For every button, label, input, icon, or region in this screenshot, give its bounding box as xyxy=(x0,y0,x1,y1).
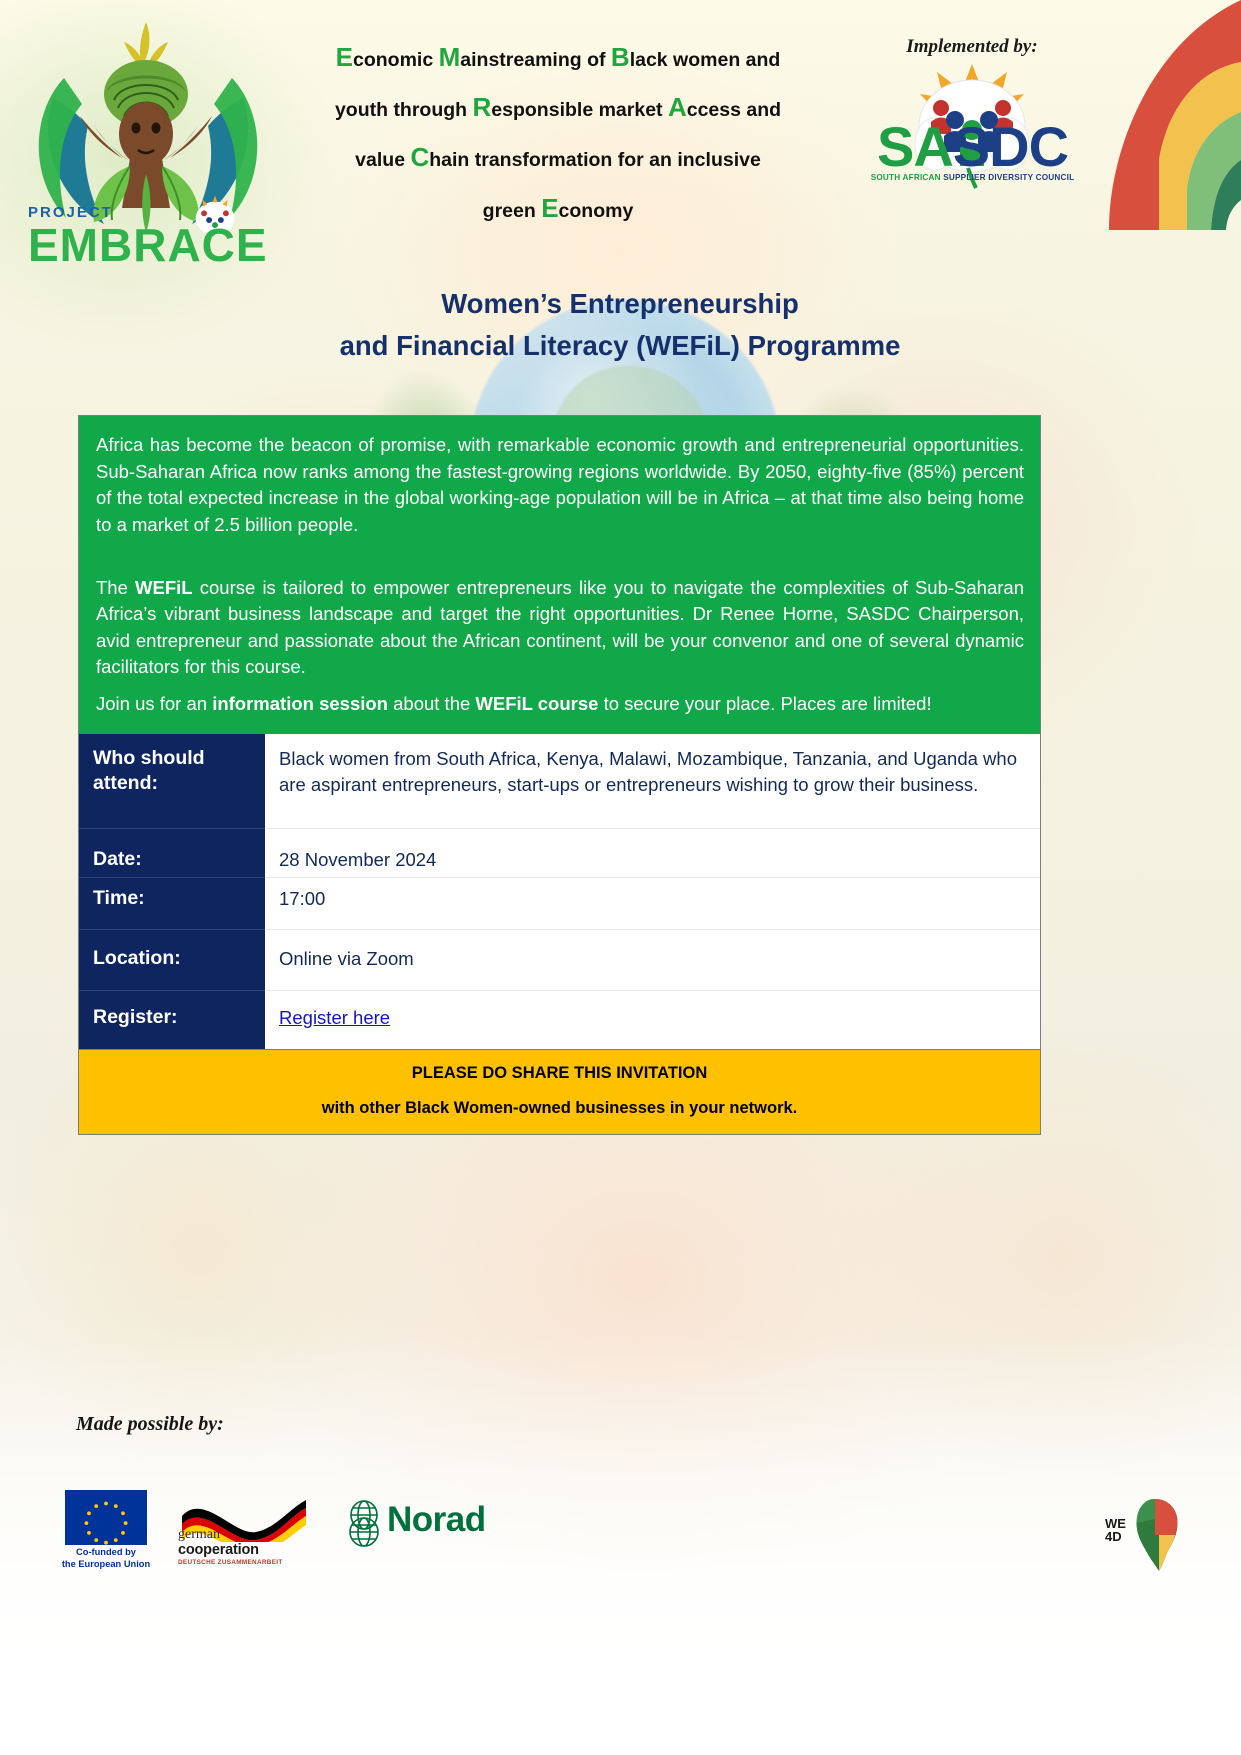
acronym-cap-E: E xyxy=(336,42,353,72)
we4d-wordmark: WE 4D xyxy=(1105,1517,1126,1544)
acronym-text-4a: green xyxy=(483,200,542,222)
implemented-by-label: Implemented by: xyxy=(862,36,1082,58)
sasdc-letters-sdc: SDC xyxy=(953,115,1068,178)
sasdc-wordmark: SASDC SOUTH AFRICAN SUPPLIER DIVERSITY C… xyxy=(855,120,1090,182)
embrace-name: EMBRACE xyxy=(28,222,268,268)
table-row: Who should attend: Black women from Sout… xyxy=(79,734,1040,829)
intro-p3-b: about the xyxy=(388,693,475,714)
intro-p3-c: to secure your place. Places are limited… xyxy=(598,693,931,714)
norad-wordmark: Norad xyxy=(387,1500,486,1540)
acronym-text-1b: ainstreaming of xyxy=(460,49,611,71)
acronym-text-1c: lack women and xyxy=(630,49,781,71)
header: PROJECT EMBRACE Economic Mainstreaming o… xyxy=(0,0,1241,285)
acronym-cap-B: B xyxy=(611,42,630,72)
acronym-text-1a: conomic xyxy=(353,49,439,71)
intro-p3-bold-1: information session xyxy=(212,693,388,714)
share-banner-line-2: with other Black Women-owned businesses … xyxy=(97,1099,1022,1118)
acronym-line-4: green Economy xyxy=(288,183,828,233)
invitation-card: Africa has become the beacon of promise,… xyxy=(78,415,1041,1135)
german-cooperation-line-1: german xyxy=(178,1528,318,1543)
paragraph-spacer-2 xyxy=(96,681,1024,691)
detail-value-date: 28 November 2024 xyxy=(265,829,1040,878)
acronym-text-2b: esponsible market xyxy=(491,99,668,121)
intro-p2-bold: WEFiL xyxy=(135,577,193,598)
acronym-line-3: value Chain transformation for an inclus… xyxy=(288,132,828,182)
table-row: Register: Register here xyxy=(79,990,1040,1049)
page-title-line-1: Women’s Entrepreneurship xyxy=(170,283,1070,325)
acronym-text-4b: conomy xyxy=(559,200,634,222)
acronym-cap-A: A xyxy=(668,92,687,122)
funder-logos: Co-funded by the European Union german c… xyxy=(60,1490,480,1580)
paragraph-spacer xyxy=(96,539,1024,575)
sasdc-letters-sa: SA xyxy=(877,115,953,178)
german-cooperation-line-3: DEUTSCHE ZUSAMMENARBEIT xyxy=(178,1560,318,1567)
german-cooperation-line-2: cooperation xyxy=(178,1543,318,1558)
table-row: Date: 28 November 2024 xyxy=(79,829,1040,878)
detail-value-time: 17:00 xyxy=(265,878,1040,929)
intro-p2-a: The xyxy=(96,577,135,598)
sasdc-tagline-a: SOUTH AFRICAN xyxy=(871,173,944,182)
detail-label-location: Location: xyxy=(79,929,265,990)
share-invitation-banner: PLEASE DO SHARE THIS INVITATION with oth… xyxy=(79,1049,1040,1134)
acronym-text-3b: hain transformation for an inclusive xyxy=(429,149,761,171)
intro-p2-b: course is tailored to empower entreprene… xyxy=(96,577,1024,678)
eu-caption-line-2: the European Union xyxy=(50,1559,162,1571)
european-union-caption: Co-funded by the European Union xyxy=(50,1547,162,1570)
page-title: Women’s Entrepreneurship and Financial L… xyxy=(170,283,1070,367)
we4d-logo: WE 4D xyxy=(1105,1495,1215,1575)
european-union-flag-icon xyxy=(65,1490,147,1545)
detail-label-who-should-attend: Who should attend: xyxy=(79,734,265,829)
detail-value-register: Register here xyxy=(265,990,1040,1049)
acronym-cap-R: R xyxy=(473,92,492,122)
table-row: Location: Online via Zoom xyxy=(79,929,1040,990)
share-banner-line-1: PLEASE DO SHARE THIS INVITATION xyxy=(97,1064,1022,1083)
programme-acronym-text: Economic Mainstreaming of Black women an… xyxy=(288,32,828,233)
acronym-text-2c: ccess and xyxy=(687,99,781,121)
page-title-line-2: and Financial Literacy (WEFiL) Programme xyxy=(170,325,1070,367)
acronym-cap-M: M xyxy=(439,42,461,72)
detail-label-time: Time: xyxy=(79,878,265,929)
acronym-line-2: youth through Responsible market Access … xyxy=(288,82,828,132)
acronym-text-3a: value xyxy=(355,149,410,171)
intro-paragraph-1: Africa has become the beacon of promise,… xyxy=(96,432,1024,539)
made-possible-by-label: Made possible by: xyxy=(76,1413,224,1436)
we4d-line-2: 4D xyxy=(1105,1530,1126,1543)
table-row: Time: 17:00 xyxy=(79,878,1040,929)
register-here-link[interactable]: Register here xyxy=(279,1007,390,1028)
norad-globe-icon xyxy=(345,1498,383,1548)
detail-value-location: Online via Zoom xyxy=(265,929,1040,990)
we4d-line-1: WE xyxy=(1105,1517,1126,1530)
german-cooperation-wordmark: german cooperation DEUTSCHE ZUSAMMENARBE… xyxy=(178,1528,318,1567)
intro-green-panel: Africa has become the beacon of promise,… xyxy=(79,416,1040,734)
acronym-cap-E2: E xyxy=(541,193,558,223)
embrace-project-label: PROJECT xyxy=(28,205,268,220)
norad-logo: Norad xyxy=(345,1496,515,1552)
detail-label-register: Register: xyxy=(79,990,265,1049)
intro-p3-a: Join us for an xyxy=(96,693,212,714)
acronym-cap-C: C xyxy=(410,142,429,172)
intro-paragraph-3: Join us for an information session about… xyxy=(96,691,1024,718)
acronym-line-1: Economic Mainstreaming of Black women an… xyxy=(288,32,828,82)
detail-value-who-should-attend: Black women from South Africa, Kenya, Ma… xyxy=(265,734,1040,829)
intro-p3-bold-2: WEFiL course xyxy=(475,693,598,714)
acronym-text-2a: youth through xyxy=(335,99,473,121)
detail-label-date: Date: xyxy=(79,829,265,878)
eu-caption-line-1: Co-funded by xyxy=(50,1547,162,1559)
event-details-table: Who should attend: Black women from Sout… xyxy=(79,734,1040,1050)
sasdc-tagline-b: SUPPLIER DIVERSITY COUNCIL xyxy=(943,173,1074,182)
project-embrace-wordmark: PROJECT EMBRACE xyxy=(28,205,268,268)
intro-paragraph-2: The WEFiL course is tailored to empower … xyxy=(96,575,1024,682)
